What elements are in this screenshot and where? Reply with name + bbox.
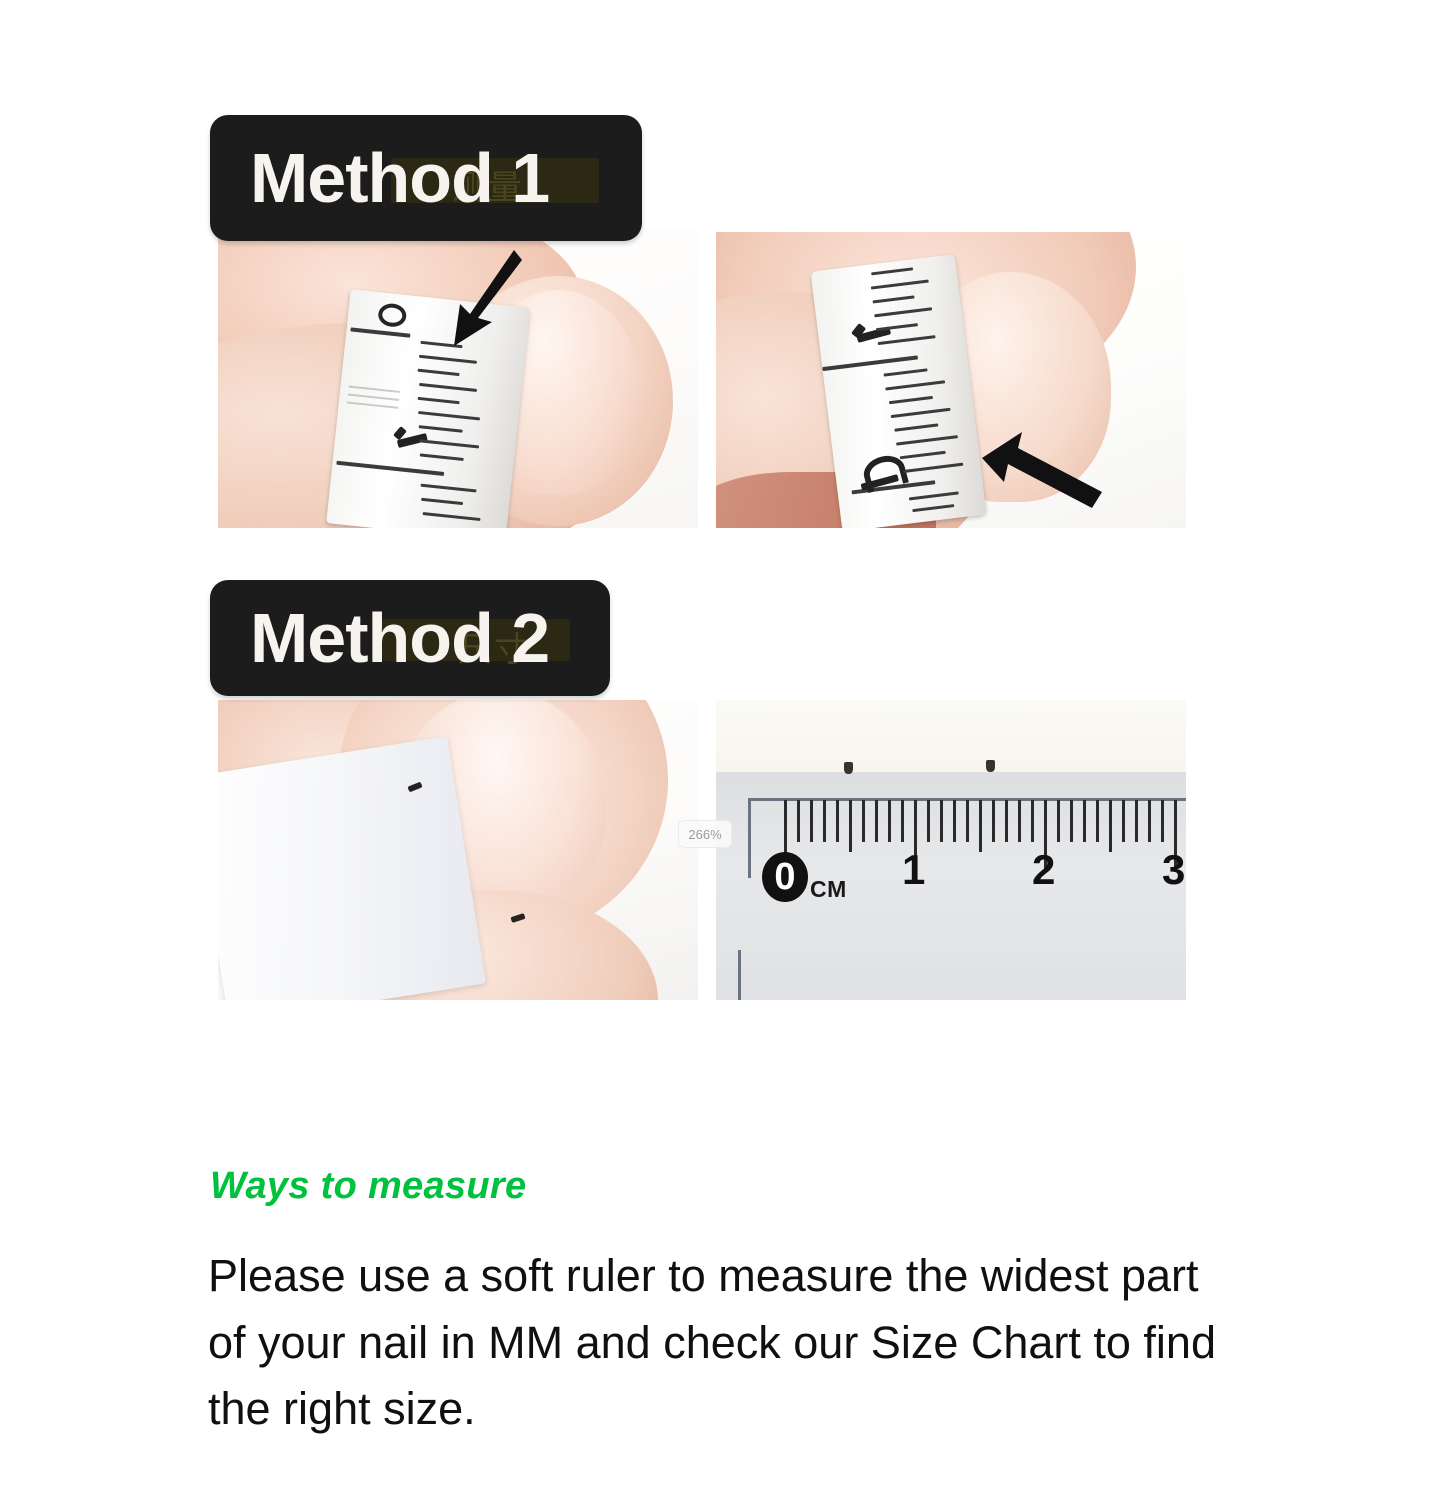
ruler-tick-minor <box>927 800 930 842</box>
method2-left-photo <box>218 700 698 1000</box>
ruler-tick-minor <box>1148 800 1151 842</box>
ruler-tick-half <box>849 800 852 852</box>
tape-tick <box>909 491 959 500</box>
tape-tick <box>903 463 963 473</box>
tape-tick <box>884 368 928 376</box>
section-heading: Ways to measure <box>210 1165 526 1208</box>
ruler-tick-minor <box>1005 800 1008 842</box>
ruler-number-2: 2 <box>1032 846 1055 894</box>
method-2-badge: 尺寸 Method 2 <box>210 580 610 696</box>
ruler-zero-marker: 0 <box>762 852 808 902</box>
ruler-tick-minor <box>836 800 839 842</box>
ruler-tick-minor <box>901 800 904 842</box>
tape-tick <box>874 307 932 317</box>
ruler-tick-minor <box>810 800 813 842</box>
reference-mark-right <box>986 760 995 772</box>
tape-tick <box>418 397 460 404</box>
tape-tick <box>878 335 936 345</box>
ruler-unit-label: CM <box>810 876 847 903</box>
ruler-tick-minor <box>1057 800 1060 842</box>
ruler-tick-minor <box>797 800 800 842</box>
tape-tick <box>912 504 954 512</box>
ruler-tick-minor <box>1031 800 1034 842</box>
method-1-badge: 测量 Method 1 <box>210 115 642 241</box>
tape-texture <box>347 401 399 408</box>
ruler-tick-minor <box>940 800 943 842</box>
ruler-left-edge <box>748 798 751 878</box>
tape-tick <box>896 435 958 446</box>
zoom-level-indicator[interactable]: 266% <box>678 820 732 848</box>
tape-tick <box>418 411 480 420</box>
pointer-arrow-icon <box>978 422 1108 528</box>
tape-tick <box>871 280 929 290</box>
ruler-tick-minor <box>1135 800 1138 842</box>
ruler-tick-minor <box>888 800 891 842</box>
ruler-tick-half <box>1109 800 1112 852</box>
tape-tick <box>900 451 946 460</box>
tape-guide-top <box>350 327 410 337</box>
ruler-bottom-edge <box>738 950 741 1000</box>
section-paragraph: Please use a soft ruler to measure the w… <box>208 1243 1243 1443</box>
tape-texture <box>348 386 400 393</box>
ruler-tick-minor <box>862 800 865 842</box>
tape-tick <box>885 380 945 390</box>
ruler-number-3: 3 <box>1162 846 1185 894</box>
ruler-tick-minor <box>1018 800 1021 842</box>
tape-tick <box>871 267 913 275</box>
method1-right-photo <box>716 232 1186 528</box>
tape-tick <box>420 453 464 461</box>
ruler-tick-minor <box>1070 800 1073 842</box>
method-1-label: Method 1 <box>250 143 549 213</box>
paper-strip <box>218 736 486 1000</box>
tape-tick <box>421 484 477 493</box>
ruler-tick-minor <box>1096 800 1099 842</box>
tape-tick <box>419 425 463 433</box>
tape-tick <box>889 396 933 404</box>
tape-tick <box>419 383 477 392</box>
tape-texture <box>348 394 400 401</box>
ruler-number-1: 1 <box>902 846 925 894</box>
reference-mark-left <box>844 762 853 774</box>
tape-tick <box>423 512 481 521</box>
tape-tick <box>891 408 951 418</box>
ruler-tick-half <box>979 800 982 852</box>
ruler-tick-minor <box>1161 800 1164 842</box>
method2-right-photo: 0 CM 1 2 3 <box>716 700 1186 1000</box>
tape-tick <box>418 369 460 376</box>
tape-guide-mid <box>822 355 918 371</box>
method-2-label: Method 2 <box>250 603 549 673</box>
tape-tick <box>419 439 479 448</box>
ruler-tick-minor <box>1083 800 1086 842</box>
ruler-tick-minor <box>992 800 995 842</box>
method1-left-photo <box>218 228 698 528</box>
ruler-tick-minor <box>966 800 969 842</box>
tape-tick <box>873 295 915 303</box>
ruler-tick-minor <box>823 800 826 842</box>
tape-tick <box>421 498 463 505</box>
ruler-tick-minor <box>953 800 956 842</box>
tape-tick <box>419 355 477 364</box>
tape-guide-bottom <box>336 461 444 476</box>
ruler-tick-minor <box>875 800 878 842</box>
tape-tick <box>876 323 918 331</box>
pointer-arrow-icon <box>418 246 528 356</box>
ruler-tick-minor <box>1122 800 1125 842</box>
tape-tick <box>894 423 938 431</box>
ruler-background-band <box>716 700 1186 772</box>
tape-number-0 <box>377 302 407 328</box>
